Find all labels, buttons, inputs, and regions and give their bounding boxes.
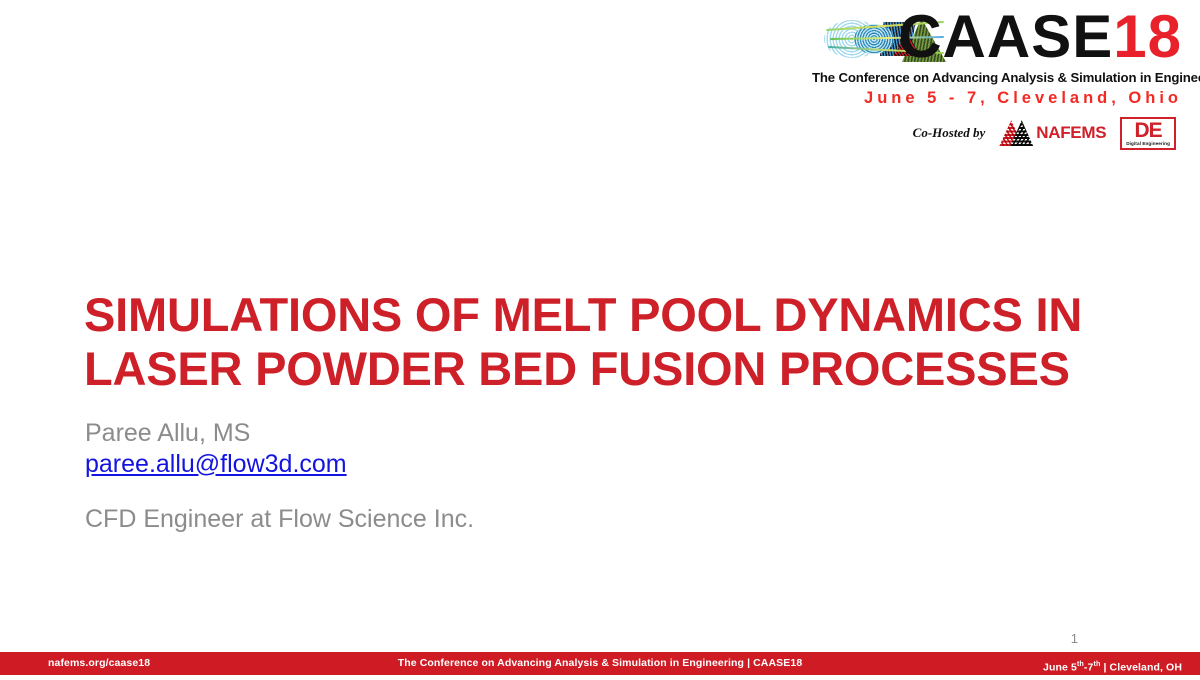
- nafems-logo: NAFEMS: [999, 120, 1106, 146]
- de-subtitle: Digital Engineering: [1126, 142, 1170, 147]
- logo-tagline: The Conference on Advancing Analysis & S…: [812, 70, 1184, 85]
- cohost-row: Co-Hosted by NAFEMS DE Digital Engineeri…: [812, 117, 1184, 150]
- author-block: Paree Allu, MS paree.allu@flow3d.com: [85, 418, 785, 479]
- logo-dates: June 5 - 7, Cleveland, Ohio: [812, 89, 1184, 108]
- logo-word-18: 18: [1113, 6, 1182, 68]
- author-affiliation: CFD Engineer at Flow Science Inc.: [85, 505, 474, 534]
- page-title-line-1: SIMULATIONS OF MELT POOL DYNAMICS IN: [84, 288, 1144, 342]
- nafems-wordmark: NAFEMS: [1036, 123, 1106, 143]
- footer-event-info: June 5th-7th | Cleveland, OH: [1043, 652, 1182, 675]
- caase18-logo-lockup: CAASE18 The Conference on Advancing Anal…: [812, 6, 1184, 150]
- page-title-line-2: LASER POWDER BED FUSION PROCESSES: [84, 342, 1144, 396]
- author-name: Paree Allu, MS: [85, 418, 785, 449]
- de-wordmark: DE: [1126, 120, 1170, 141]
- slide-number: 1: [1071, 631, 1078, 646]
- nafems-triangle-mesh-icon: [999, 120, 1033, 146]
- footer-date-sup-1: th: [1077, 659, 1084, 668]
- author-email-link[interactable]: paree.allu@flow3d.com: [85, 449, 347, 480]
- logo-word-caase: CAASE: [898, 6, 1113, 68]
- slide-title-block: SIMULATIONS OF MELT POOL DYNAMICS IN LAS…: [84, 288, 1144, 395]
- footer-location: | Cleveland, OH: [1100, 662, 1182, 674]
- digital-engineering-logo: DE Digital Engineering: [1120, 117, 1176, 150]
- footer-center-text: The Conference on Advancing Analysis & S…: [0, 652, 1200, 675]
- cohost-label: Co-Hosted by: [913, 125, 986, 141]
- footer-website-link[interactable]: nafems.org/caase18: [48, 652, 150, 675]
- footer-bar: The Conference on Advancing Analysis & S…: [0, 652, 1200, 675]
- caase-wordmark: CAASE18: [812, 6, 1184, 68]
- footer-date-prefix: June 5: [1043, 662, 1077, 674]
